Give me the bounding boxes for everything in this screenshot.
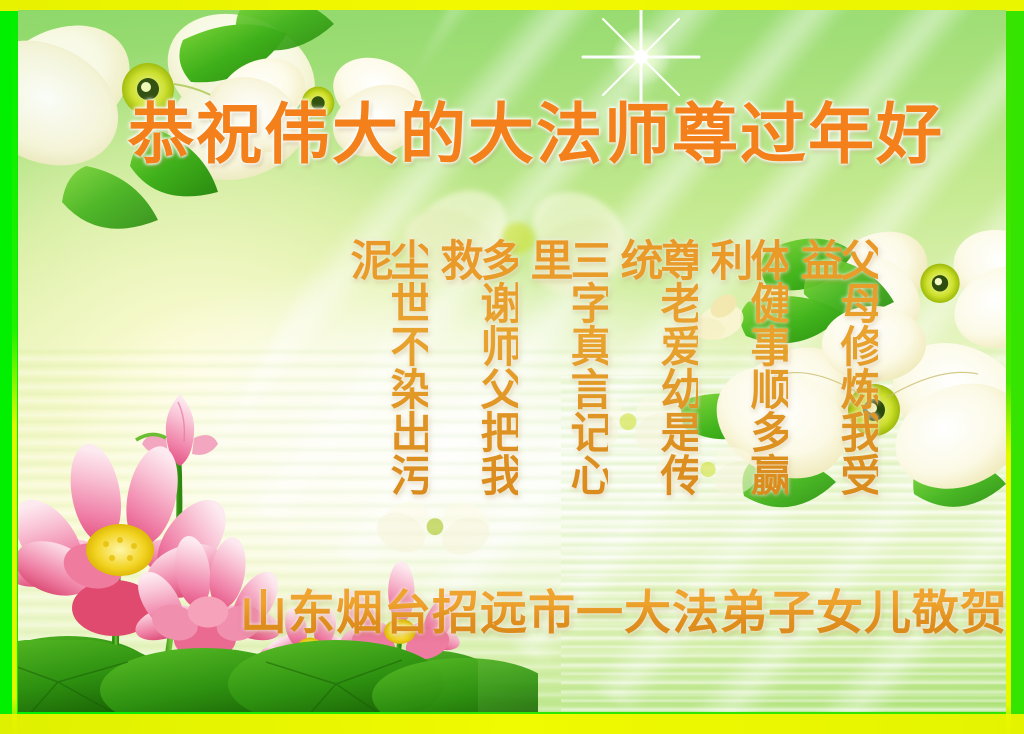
poem-column-1: 父母修炼我受益 xyxy=(798,238,878,518)
lotus-leaves-bottom-band xyxy=(18,640,538,712)
poem-column-2: 体健事顺多赢利 xyxy=(708,238,788,518)
card-border-yellow-right xyxy=(1006,0,1011,734)
card-border-yellow-bottom xyxy=(0,714,1024,734)
poem-column-4: 三字真言记心里 xyxy=(528,238,608,518)
poem-column-5: 多谢师父把我救 xyxy=(438,238,518,518)
card-title: 恭祝伟大的大法师尊过年好 xyxy=(128,98,944,172)
greeting-card: 恭祝伟大的大法师尊过年好 父母修炼我受益 体健事顺多赢利 尊老爱幼是传统 三字真… xyxy=(0,0,1024,734)
card-artwork-scene: 恭祝伟大的大法师尊过年好 父母修炼我受益 体健事顺多赢利 尊老爱幼是传统 三字真… xyxy=(18,10,1006,712)
poem-column-3: 尊老爱幼是传统 xyxy=(618,238,698,518)
poem-block: 父母修炼我受益 体健事顺多赢利 尊老爱幼是传统 三字真言记心里 多谢师父把我救 … xyxy=(348,238,878,518)
card-signature: 山东烟台招远市一大法弟子女儿敬贺 xyxy=(240,588,1006,640)
card-border-yellow-left xyxy=(12,0,17,734)
poem-column-6: 尘世不染出污泥 xyxy=(348,238,428,518)
